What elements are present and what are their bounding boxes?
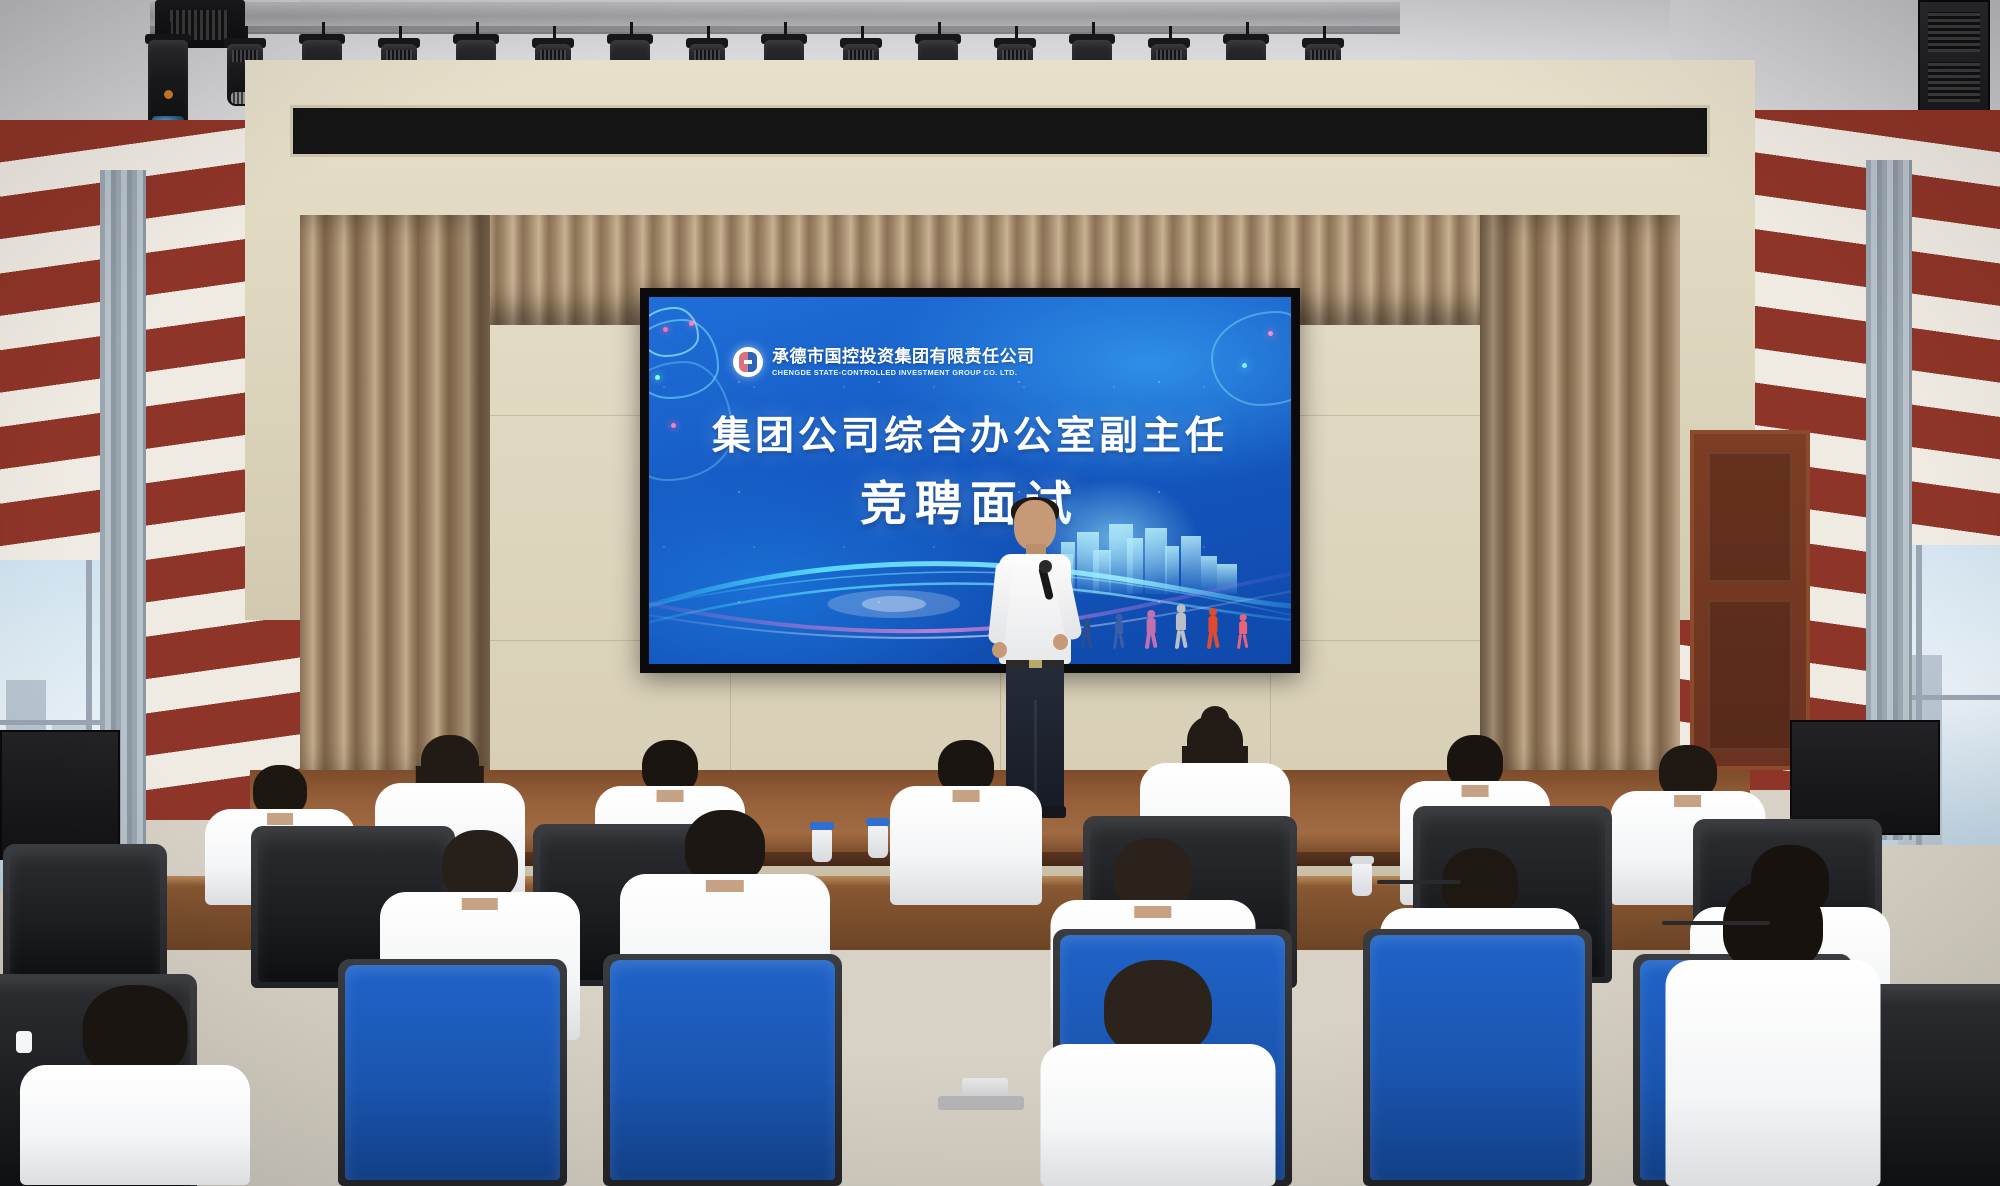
presenter-right-shoe [1038,806,1066,818]
network-node-icon [655,375,660,380]
audience-chair[interactable] [1370,935,1585,1180]
audience-chair[interactable] [345,965,560,1180]
microphone-head-icon [1039,560,1052,573]
company-name-en: CHENGDE STATE-CONTROLLED INVESTMENT GROU… [772,368,1035,377]
company-logo-icon [733,347,763,377]
slide-brand-lockup: 承德市国控投资集团有限责任公司 CHENGDE STATE-CONTROLLED… [733,347,1035,377]
audience-torso [890,786,1042,905]
presenter-left-hand [992,642,1007,658]
runner-silhouette [1205,608,1221,648]
floor-speaker-right [1790,720,1940,835]
runner-silhouette [1111,614,1127,648]
network-node-icon [1268,331,1273,336]
audience-member [20,985,250,1185]
led-screen-bezel: 承德市国控投资集团有限责任公司 CHENGDE STATE-CONTROLLED… [640,288,1300,673]
light-ribbon-graphic [649,530,1291,650]
network-decoration-icon [649,307,699,357]
network-decoration-icon [1211,311,1291,406]
proscenium-header-band [290,105,1710,157]
audience-neck [657,790,684,802]
audience-torso [1665,960,1880,1186]
network-node-icon [1242,363,1247,368]
audience-head [1104,960,1212,1056]
audience-member [890,740,1042,905]
audience-head [1723,880,1823,972]
stage-curtain-right [1480,215,1680,775]
audience-neck [1134,906,1171,918]
lighting-truss-lower-rail [150,26,1400,34]
audience-neck [267,813,293,825]
audience-hair-bun [1201,706,1229,732]
runner-silhouette [1173,604,1189,648]
eyeglasses-icon [1662,921,1770,925]
presenter-right-hand [1053,634,1068,650]
audience-chair[interactable] [10,850,160,980]
slide-title-line-1: 集团公司综合办公室副主任 [649,405,1291,461]
audience-torso [20,1065,250,1185]
audience-neck [1462,785,1489,797]
auditorium-scene: 承德市国控投资集团有限责任公司 CHENGDE STATE-CONTROLLED… [0,0,2000,1186]
light-brand-badge-icon [164,90,173,99]
floor-speaker-left [0,730,120,860]
led-screen[interactable]: 承德市国控投资集团有限责任公司 CHENGDE STATE-CONTROLLED… [649,297,1291,664]
eyeglasses-icon [1377,880,1461,884]
company-name-cn: 承德市国控投资集团有限责任公司 [772,347,1035,367]
audience-head [685,810,765,884]
audience-neck [462,898,498,910]
audience-torso [1040,1044,1275,1186]
audience-neck [953,790,980,802]
presenter-head [1014,500,1056,550]
runner-silhouette [1235,614,1251,648]
audience-chair[interactable] [610,960,835,1180]
stage-door-right[interactable] [1690,430,1810,770]
stage-curtain-left [300,215,490,775]
speaker-grille-top [1928,12,1980,52]
network-node-icon [689,321,694,326]
audience-member [1665,880,1880,1186]
audience-head [83,985,188,1077]
audience-neck [706,880,744,892]
runner-silhouette [1143,610,1159,648]
water-cup[interactable] [868,824,888,858]
audience-neck [1674,795,1702,807]
water-cup[interactable] [1352,862,1372,896]
audience-member [1040,960,1275,1186]
network-node-icon [663,327,668,332]
face-mask [16,1031,32,1053]
desk-unit-base [938,1096,1024,1110]
speaker-grille-mid [1928,62,1980,102]
